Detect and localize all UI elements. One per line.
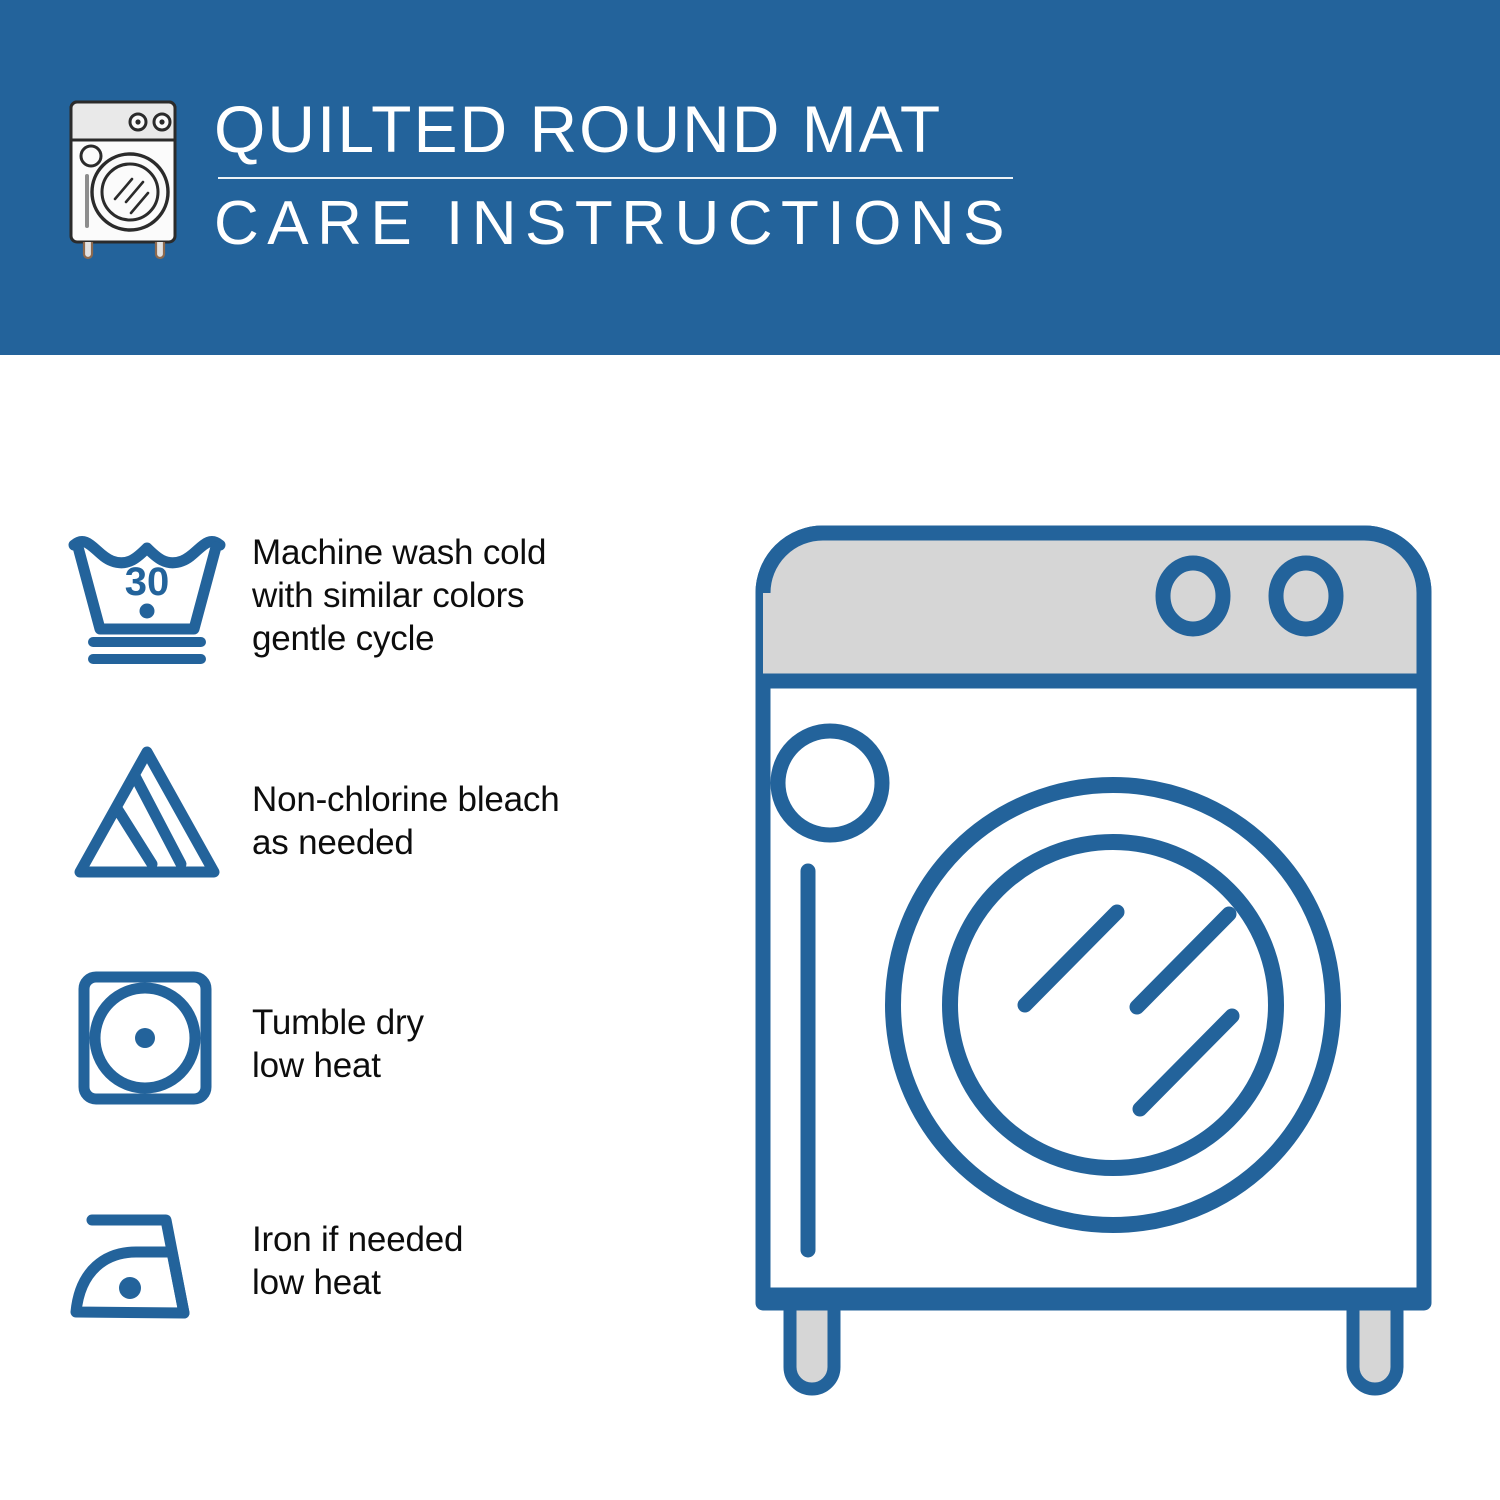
iron-low-heat-icon [62, 1180, 252, 1333]
care-text-tumble-dry: Tumble dry low heat [252, 955, 424, 1087]
header-content: QUILTED ROUND MAT CARE INSTRUCTIONS [62, 88, 1013, 262]
title-divider [218, 177, 1013, 179]
header-banner: QUILTED ROUND MAT CARE INSTRUCTIONS [0, 0, 1500, 355]
tumble-dry-low-heat-icon [62, 955, 252, 1108]
care-row-tumble-dry: Tumble dry low heat [62, 955, 722, 1180]
care-text-wash: Machine wash cold with similar colors ge… [252, 505, 546, 660]
page-title: QUILTED ROUND MAT [214, 90, 1013, 168]
care-text-bleach: Non-chlorine bleach as needed [252, 730, 560, 864]
title-block: QUILTED ROUND MAT CARE INSTRUCTIONS [214, 88, 1013, 259]
machine-control-panel [763, 533, 1424, 681]
triangle-non-chlorine-bleach-icon [62, 730, 252, 883]
washing-machine-logo-icon [62, 94, 190, 262]
page-subtitle: CARE INSTRUCTIONS [214, 189, 1013, 259]
care-text-iron: Iron if needed low heat [252, 1180, 463, 1304]
wash-temperature-label: 30 [125, 560, 170, 604]
care-row-wash: 30 Machine wash cold with similar colors… [62, 505, 722, 730]
wash-tub-30-gentle-icon: 30 [62, 505, 252, 668]
care-instruction-list: 30 Machine wash cold with similar colors… [62, 505, 722, 1405]
washing-machine-illustration [745, 495, 1455, 1425]
care-row-bleach: Non-chlorine bleach as needed [62, 730, 722, 955]
care-row-iron: Iron if needed low heat [62, 1180, 722, 1405]
